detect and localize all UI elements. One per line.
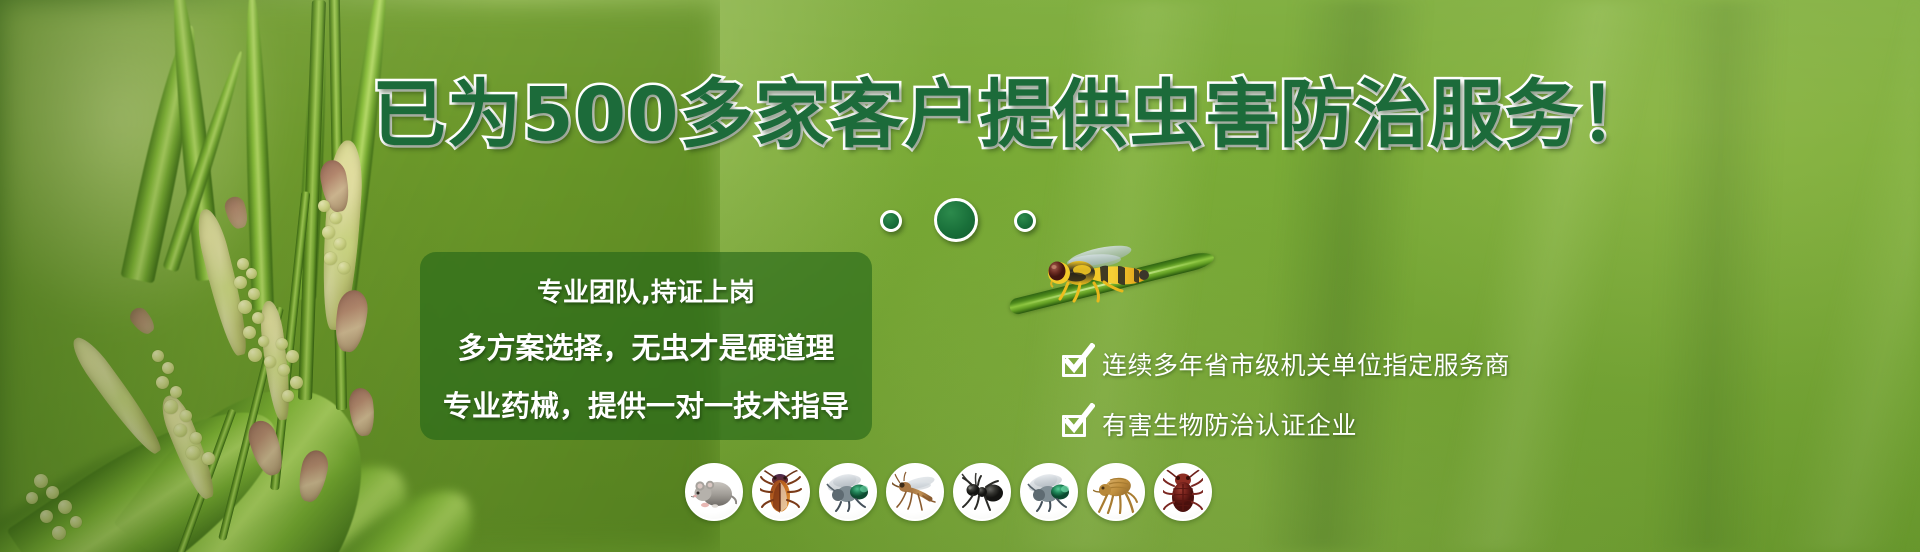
checklist-item-label: 有害生物防治认证企业 [1102,406,1357,442]
fly-icon [825,472,871,512]
hoverfly-icon [1038,243,1168,307]
pest-control-banner: 已为500多家客户提供虫害防治服务！ 专业团队,持证上岗 多方案选择，无虫才是硬… [0,0,1920,552]
pest-circle [953,463,1011,521]
checklist-item-label: 连续多年省市级机关单位指定服务商 [1102,346,1510,382]
dot-large-center [934,198,978,242]
pest-circle [1154,463,1212,521]
checklist-item: 连续多年省市级机关单位指定服务商 [1062,340,1622,388]
hoverfly-insect [1038,243,1168,307]
checklist-item: 有害生物防治认证企业 [1062,400,1622,448]
blowfly-icon [1026,472,1072,512]
pest-types-strip [685,463,1212,525]
pest-circle [1020,463,1078,521]
pest-circle [752,463,810,521]
mouse-icon [691,472,737,512]
flea-icon [1093,470,1139,514]
checkbox-checked-icon [1062,351,1088,377]
checkbox-checked-icon [1062,411,1088,437]
decorative-dots [880,196,1070,242]
cockroach-icon [760,469,802,515]
pest-circle [819,463,877,521]
credentials-checklist: 连续多年省市级机关单位指定服务商 有害生物防治认证企业 [1062,340,1622,460]
dot-small-right [1014,210,1036,232]
pest-circle [685,463,743,521]
mosquito-icon [892,471,938,513]
selling-point-line-3: 专业药械，提供一对一技术指导 [443,378,849,434]
selling-point-line-2: 多方案选择，无虫才是硬道理 [457,320,834,376]
pest-circle [886,463,944,521]
selling-points-panel: 专业团队,持证上岗 多方案选择，无虫才是硬道理 专业药械，提供一对一技术指导 [420,252,872,440]
page-title: 已为500多家客户提供虫害防治服务！ [372,72,1654,158]
dot-small-left [880,210,902,232]
pest-circle [1087,463,1145,521]
ant-icon [959,472,1005,512]
bedbug-icon [1163,469,1203,515]
selling-point-line-1: 专业团队,持证上岗 [537,268,755,318]
